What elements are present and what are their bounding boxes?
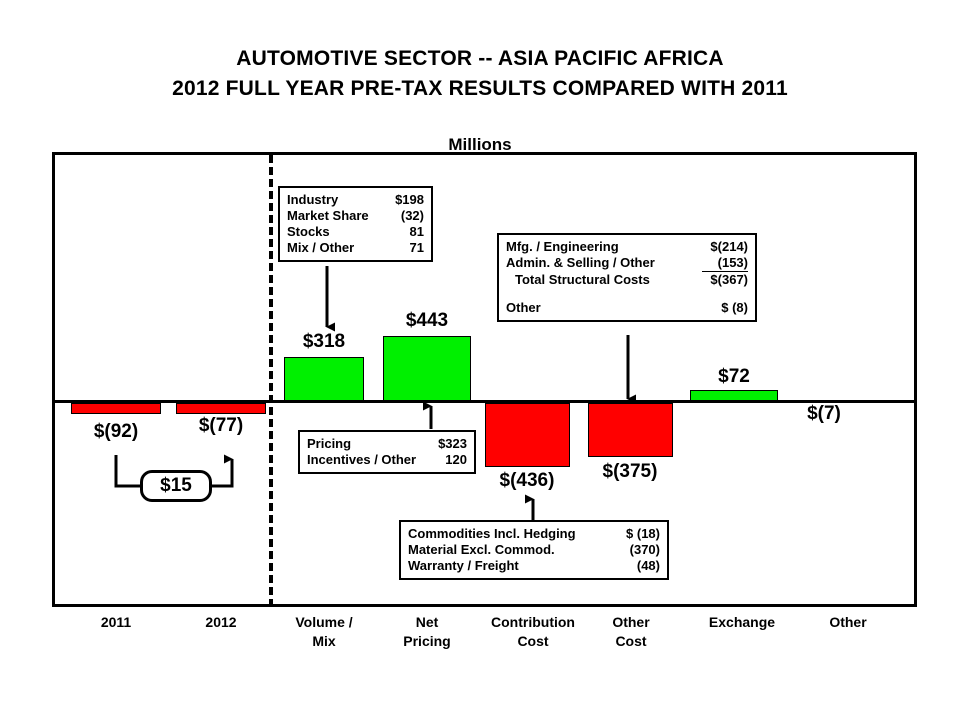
value-label-other: $(7) <box>774 403 874 425</box>
title-line-2: 2012 FULL YEAR PRE-TAX RESULTS COMPARED … <box>0 74 960 104</box>
callout-contribution-cost: Commodities Incl. Hedging $ (18) Materia… <box>399 520 669 580</box>
callout-row-value: 120 <box>436 452 467 468</box>
table-row: Pricing $323 <box>307 436 467 452</box>
callout-net-pricing: Pricing $323 Incentives / Other 120 <box>298 430 476 474</box>
value-label-2012: $(77) <box>171 415 271 437</box>
bar-other-cost[interactable] <box>588 403 673 457</box>
table-row-spacer <box>506 288 748 300</box>
callout-volume-mix: Industry $198 Market Share (32) Stocks 8… <box>278 186 433 262</box>
callout-row-label: Total Structural Costs <box>506 272 702 289</box>
category-line-1: Net <box>377 613 477 632</box>
callout-row-label: Material Excl. Commod. <box>408 542 620 558</box>
table-row: Incentives / Other 120 <box>307 452 467 468</box>
category-line-2: Cost <box>586 632 676 651</box>
bar-2012[interactable] <box>176 403 266 414</box>
callout-other-cost: Mfg. / Engineering $(214) Admin. & Selli… <box>497 233 757 322</box>
category-line-1: Volume / <box>274 613 374 632</box>
callout-row-value: $ (18) <box>620 526 660 542</box>
callout-row-value: (32) <box>391 208 424 224</box>
table-row: Market Share (32) <box>287 208 424 224</box>
callout-row-value: $(367) <box>702 272 748 289</box>
delta-pill-label: $15 <box>160 475 192 497</box>
category-line-2: Cost <box>477 632 589 651</box>
callout-other-cost-table: Mfg. / Engineering $(214) Admin. & Selli… <box>506 239 748 316</box>
value-label-other-cost: $(375) <box>580 461 680 483</box>
table-row: Other $ (8) <box>506 300 748 316</box>
value-label-net-pricing: $443 <box>377 310 477 332</box>
callout-row-value: $(214) <box>702 239 748 255</box>
delta-2011-2012-pill[interactable]: $15 <box>140 470 212 502</box>
callout-row-label: Market Share <box>287 208 391 224</box>
callout-row-value: (370) <box>620 542 660 558</box>
category-label-contribution-cost: Contribution Cost <box>477 613 589 651</box>
callout-row-value: $ (8) <box>702 300 748 316</box>
callout-row-value: 71 <box>391 240 424 256</box>
title-line-1: AUTOMOTIVE SECTOR -- ASIA PACIFIC AFRICA <box>0 44 960 74</box>
callout-row-label: Mfg. / Engineering <box>506 239 702 255</box>
category-line-1: Other <box>586 613 676 632</box>
category-label-2011: 2011 <box>66 613 166 632</box>
category-line-2: Mix <box>274 632 374 651</box>
callout-volume-mix-table: Industry $198 Market Share (32) Stocks 8… <box>287 192 424 256</box>
bar-contribution-cost[interactable] <box>485 403 570 467</box>
callout-row-label: Admin. & Selling / Other <box>506 255 702 272</box>
bar-volume-mix[interactable] <box>284 357 364 401</box>
category-line-1: Exchange <box>688 613 796 632</box>
category-line-1: 2011 <box>66 613 166 632</box>
value-label-contribution-cost: $(436) <box>477 470 577 492</box>
value-label-2011: $(92) <box>66 421 166 443</box>
table-row: Admin. & Selling / Other (153) <box>506 255 748 272</box>
table-row: Warranty / Freight (48) <box>408 558 660 574</box>
value-label-exchange: $72 <box>684 366 784 388</box>
callout-contribution-cost-table: Commodities Incl. Hedging $ (18) Materia… <box>408 526 660 574</box>
category-line-1: 2012 <box>171 613 271 632</box>
value-label-volume-mix: $318 <box>274 331 374 353</box>
callout-row-label: Warranty / Freight <box>408 558 620 574</box>
category-label-2012: 2012 <box>171 613 271 632</box>
callout-row-value: 81 <box>391 224 424 240</box>
table-row: Material Excl. Commod. (370) <box>408 542 660 558</box>
category-label-other: Other <box>798 613 898 632</box>
category-label-other-cost: Other Cost <box>586 613 676 651</box>
page-title: AUTOMOTIVE SECTOR -- ASIA PACIFIC AFRICA… <box>0 44 960 104</box>
table-row: Commodities Incl. Hedging $ (18) <box>408 526 660 542</box>
callout-row-label: Industry <box>287 192 391 208</box>
bar-net-pricing[interactable] <box>383 336 471 401</box>
bar-2011[interactable] <box>71 403 161 414</box>
category-label-net-pricing: Net Pricing <box>377 613 477 651</box>
callout-row-label: Pricing <box>307 436 436 452</box>
callout-row-value: (153) <box>702 255 748 272</box>
table-row: Mfg. / Engineering $(214) <box>506 239 748 255</box>
actuals-bridge-divider <box>269 155 273 607</box>
category-label-exchange: Exchange <box>688 613 796 632</box>
table-row: Total Structural Costs $(367) <box>506 272 748 289</box>
callout-net-pricing-table: Pricing $323 Incentives / Other 120 <box>307 436 467 468</box>
table-row: Stocks 81 <box>287 224 424 240</box>
callout-row-label: Mix / Other <box>287 240 391 256</box>
category-label-volume-mix: Volume / Mix <box>274 613 374 651</box>
category-line-2: Pricing <box>377 632 477 651</box>
callout-row-label: Other <box>506 300 702 316</box>
category-line-1: Contribution <box>477 613 589 632</box>
callout-row-value: (48) <box>620 558 660 574</box>
table-row: Mix / Other 71 <box>287 240 424 256</box>
callout-row-label: Commodities Incl. Hedging <box>408 526 620 542</box>
category-line-1: Other <box>798 613 898 632</box>
bar-exchange[interactable] <box>690 390 778 401</box>
callout-row-label: Stocks <box>287 224 391 240</box>
slide-canvas: AUTOMOTIVE SECTOR -- ASIA PACIFIC AFRICA… <box>0 0 960 720</box>
table-row: Industry $198 <box>287 192 424 208</box>
callout-row-label: Incentives / Other <box>307 452 436 468</box>
callout-row-value: $323 <box>436 436 467 452</box>
callout-row-value: $198 <box>391 192 424 208</box>
